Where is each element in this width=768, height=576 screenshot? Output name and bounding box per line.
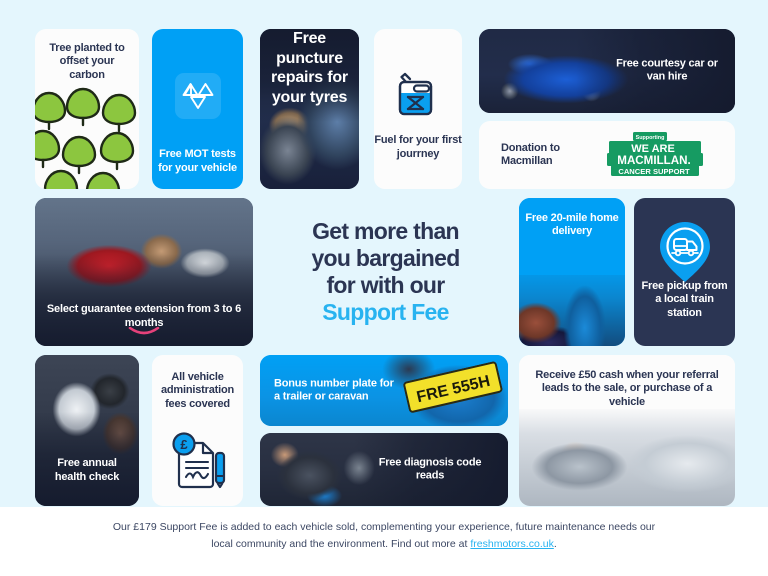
svg-text:CANCER SUPPORT: CANCER SUPPORT <box>618 167 690 176</box>
freshmotors-link[interactable]: freshmotors.co.uk <box>470 538 553 550</box>
fuel-can-icon <box>397 71 439 122</box>
card-label: Free courtesy car or van hire <box>613 58 721 85</box>
card-label: Free diagnosis code reads <box>374 456 486 483</box>
macmillan-logo: Supporting WE ARE MACMILLAN. CANCER SUPP… <box>603 132 707 178</box>
card-label: All vehicle administration fees covered <box>152 355 243 411</box>
card-tree-planted[interactable]: Tree planted to offset your carbon <box>35 29 139 189</box>
card-label: Donation to Macmillan <box>501 142 597 169</box>
hero-heading: Get more than you bargained for with our… <box>263 218 508 326</box>
card-free-mot[interactable]: Free MOT tests for your vehicle <box>152 29 243 189</box>
card-home-delivery[interactable]: Free 20-mile home delivery <box>519 198 625 346</box>
hero-accent-line: Support Fee <box>263 299 508 326</box>
mot-triangles-icon <box>175 73 221 119</box>
svg-text:Supporting: Supporting <box>636 135 665 141</box>
hero-line-2: you bargained <box>263 245 508 272</box>
promo-page: Tree planted to offset your carbon Free … <box>0 0 768 576</box>
card-label: Tree planted to offset your carbon <box>35 29 139 82</box>
card-fuel-first-journey[interactable]: Fuel for your first jourrney <box>374 29 462 189</box>
card-label: Fuel for your first jourrney <box>374 134 462 161</box>
svg-text:£: £ <box>180 437 188 452</box>
tree-pattern-icon <box>35 87 139 189</box>
hero-line-1: Get more than <box>263 218 508 245</box>
card-admin-fees[interactable]: All vehicle administration fees covered … <box>152 355 243 506</box>
footer-text-end: . <box>554 538 557 550</box>
card-label: Free 20-mile home delivery <box>519 212 625 239</box>
footer-disclaimer: Our £179 Support Fee is added to each ve… <box>0 519 768 553</box>
card-label: Select guarantee extension from 3 to 6 m… <box>35 303 253 330</box>
card-label: Free pickup from a local train station <box>634 280 735 320</box>
card-label: Free puncture repairs for your tyres <box>260 29 359 107</box>
card-guarantee-extension[interactable]: Select guarantee extension from 3 to 6 m… <box>35 198 253 346</box>
photo-delivery-driver <box>519 263 625 346</box>
document-pound-pen-icon: £ <box>168 431 228 494</box>
card-bonus-number-plate[interactable]: FRE 555H Bonus number plate for a traile… <box>260 355 508 426</box>
train-pin-icon <box>656 220 714 289</box>
card-macmillan-donation[interactable]: Donation to Macmillan Supporting WE ARE … <box>479 121 735 189</box>
card-train-station-pickup[interactable]: Free pickup from a local train station <box>634 198 735 346</box>
underline-arc-icon <box>128 327 160 337</box>
hero-panel: Get more than you bargained for with our… <box>263 198 508 346</box>
card-courtesy-car[interactable]: Free courtesy car or van hire <box>479 29 735 113</box>
card-label: Free annual health check <box>35 457 139 484</box>
benefits-grid: Tree planted to offset your carbon Free … <box>35 29 735 506</box>
card-diagnosis-code-reads[interactable]: Free diagnosis code reads <box>260 433 508 506</box>
svg-text:MACMILLAN.: MACMILLAN. <box>617 154 690 167</box>
card-label: Free MOT tests for your vehicle <box>152 148 243 175</box>
card-label: Receive £50 cash when your referral lead… <box>519 369 735 409</box>
card-annual-health-check[interactable]: Free annual health check <box>35 355 139 506</box>
card-puncture-repairs[interactable]: Free puncture repairs for your tyres <box>260 29 359 189</box>
hero-line-3: for with our <box>263 272 508 299</box>
card-referral-cash[interactable]: Receive £50 cash when your referral lead… <box>519 355 735 506</box>
card-label: Bonus number plate for a trailer or cara… <box>274 377 394 404</box>
footer-text: Our £179 Support Fee is added to each ve… <box>113 521 655 550</box>
